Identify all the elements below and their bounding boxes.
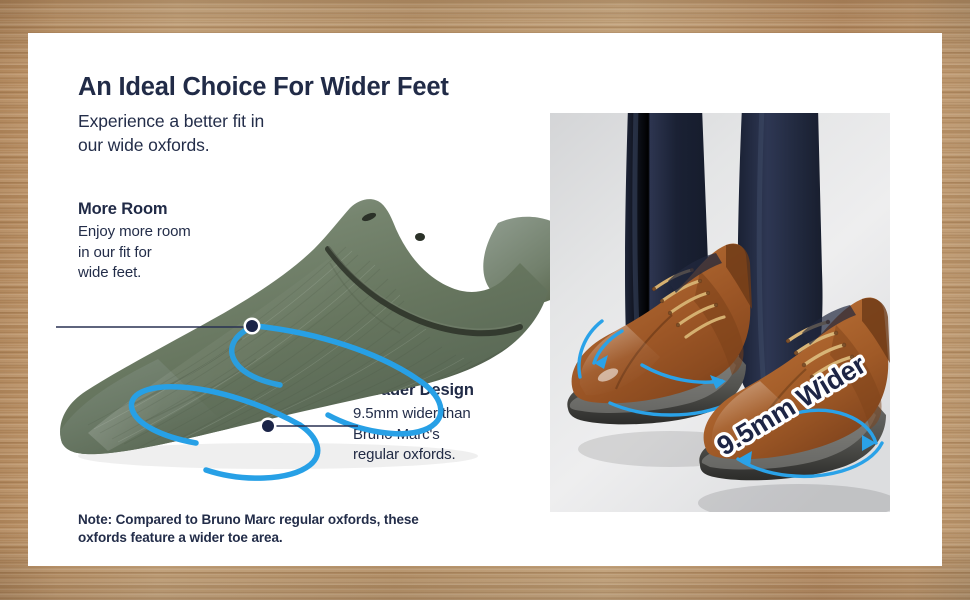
anchor-dot-broader-design-ring [260, 418, 277, 435]
band-instep-back [232, 326, 280, 385]
content-card: An Ideal Choice For Wider Feet Experienc… [28, 33, 942, 566]
callout-more-room-title: More Room [78, 200, 191, 219]
band-forefoot-front [206, 425, 318, 478]
anchor-dot-more-room [246, 320, 258, 332]
product-photo: 9.5mm Wider 9.5mm Wider [550, 113, 890, 512]
page-title: An Ideal Choice For Wider Feet [78, 73, 449, 102]
last-hole-front-icon [361, 211, 377, 223]
callout-more-room: More Room Enjoy more room in our fit for… [78, 200, 191, 284]
callout-broader-design-title: Broader Design [353, 381, 474, 400]
anchor-dot-more-room-ring [244, 318, 261, 335]
anchor-dot-broader-design [262, 420, 274, 432]
callout-broader-design-line-3: regular oxfords. [353, 445, 474, 466]
last-toe-seam-2 [146, 359, 256, 421]
last-underside [48, 311, 568, 481]
band-forefoot-back [131, 387, 300, 443]
callout-more-room-body: Enjoy more room in our fit for wide feet… [78, 222, 191, 284]
callout-broader-design-body: 9.5mm wider than Bruno Marc's regular ox… [353, 404, 474, 466]
last-instep-line [330, 263, 400, 333]
callout-more-room-line-2: in our fit for [78, 243, 191, 264]
callout-broader-design-line-1: 9.5mm wider than [353, 404, 474, 425]
callout-broader-design-line-2: Bruno Marc's [353, 425, 474, 446]
disclaimer-note-line-1: Note: Compared to Bruno Marc regular oxf… [78, 511, 419, 529]
disclaimer-note-line-2: oxfords feature a wider toe area. [78, 529, 419, 547]
subtitle-line-2: our wide oxfords. [78, 133, 264, 157]
last-highlight [88, 259, 368, 451]
last-hole-rear-icon [415, 233, 425, 241]
disclaimer-note: Note: Compared to Bruno Marc regular oxf… [78, 511, 419, 547]
last-hinge-highlight [328, 245, 520, 329]
last-toe-seam [132, 339, 242, 405]
callout-broader-design: Broader Design 9.5mm wider than Bruno Ma… [353, 381, 474, 466]
last-toe [48, 359, 238, 473]
callout-more-room-line-1: Enjoy more room [78, 222, 191, 243]
ad-banner: An Ideal Choice For Wider Feet Experienc… [0, 0, 970, 600]
page-subtitle: Experience a better fit in our wide oxfo… [78, 109, 264, 157]
subtitle-line-1: Experience a better fit in [78, 109, 264, 133]
last-hinge-band [328, 249, 520, 333]
callout-more-room-line-3: wide feet. [78, 263, 191, 284]
